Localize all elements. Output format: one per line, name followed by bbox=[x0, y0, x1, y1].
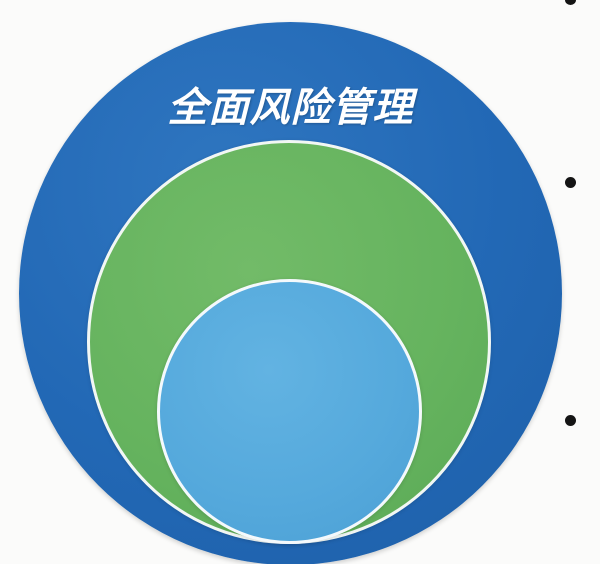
ring-outer-label: 全面风险管理 bbox=[19, 84, 562, 132]
diagram-canvas: 全面风险管理 内部控制 合规管理 bbox=[0, 0, 600, 564]
bullet-marker-bottom bbox=[565, 415, 576, 426]
ring-inner-compliance-management: 合规管理 bbox=[157, 279, 422, 544]
bullet-marker-middle bbox=[565, 177, 576, 188]
bullet-marker-top bbox=[565, 0, 576, 5]
